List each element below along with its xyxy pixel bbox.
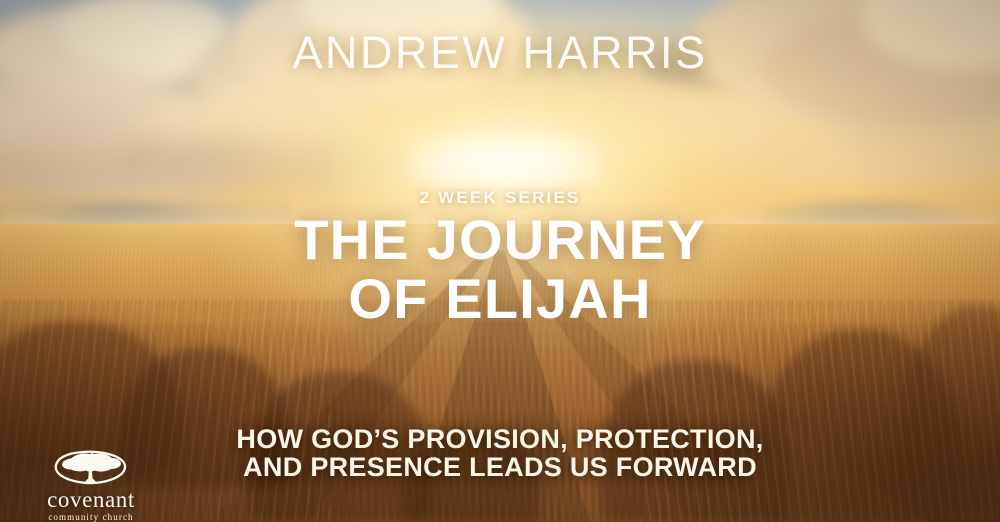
oak-tree-in-ellipse-icon (49, 447, 133, 487)
series-title: THE JOURNEY OF ELIJAH (0, 214, 1000, 325)
tagline: HOW GOD’S PROVISION, PROTECTION, AND PRE… (0, 426, 1000, 481)
church-logo: covenant community church (32, 447, 150, 519)
logo-subtitle: community church (32, 513, 150, 522)
tagline-line-1: HOW GOD’S PROVISION, PROTECTION, (0, 426, 1000, 454)
tagline-line-2: AND PRESENCE LEADS US FORWARD (0, 454, 1000, 482)
text-layer: ANDREW HARRIS 2 WEEK SERIES THE JOURNEY … (0, 0, 1000, 522)
speaker-name: ANDREW HARRIS (0, 30, 1000, 75)
series-title-line-2: OF ELIJAH (0, 273, 1000, 326)
sermon-series-graphic: ANDREW HARRIS 2 WEEK SERIES THE JOURNEY … (0, 0, 1000, 522)
series-title-line-1: THE JOURNEY (0, 214, 1000, 267)
logo-wordmark: covenant (32, 488, 150, 511)
series-length-label: 2 WEEK SERIES (0, 189, 1000, 206)
